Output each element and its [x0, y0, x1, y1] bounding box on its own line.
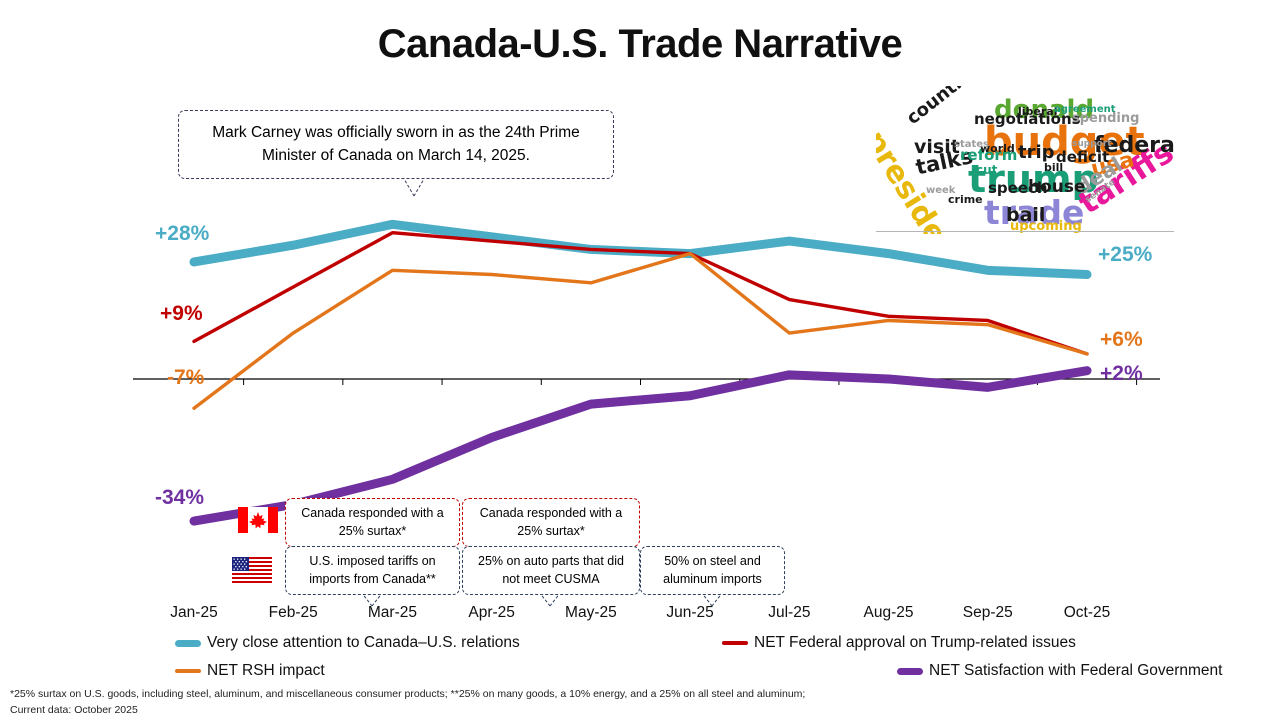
- legend-item-rsh: NET RSH impact: [175, 662, 325, 680]
- word-cloud-term-bill: bill: [1044, 162, 1063, 173]
- legend-label-satisfaction: NET Satisfaction with Federal Government: [929, 662, 1222, 680]
- series-line-2: [194, 254, 1087, 409]
- legend-item-approval: NET Federal approval on Trump-related is…: [722, 634, 1076, 652]
- x-axis-tick-may-25: May-25: [546, 604, 636, 622]
- annotation-canada-surtax-2: Canada responded with a 25% surtax*: [462, 498, 640, 547]
- legend-item-attention: Very close attention to Canada–U.S. rela…: [175, 634, 520, 652]
- start-label-rsh: -7%: [167, 366, 204, 390]
- x-axis-tick-mar-25: Mar-25: [347, 604, 437, 622]
- word-cloud-term-liberal: liberal: [1018, 106, 1058, 117]
- x-axis-labels: Jan-25Feb-25Mar-25Apr-25May-25Jun-25Jul-…: [0, 604, 1280, 626]
- word-cloud-term-states: states: [954, 140, 989, 150]
- end-label-attention: +25%: [1098, 243, 1152, 267]
- word-cloud-term-cut: cut: [976, 164, 997, 176]
- word-cloud-term-agreement: agreement: [1054, 105, 1116, 115]
- annotation-auto-parts: 25% on auto parts that did not meet CUSM…: [462, 546, 640, 595]
- start-label-approval: +9%: [160, 302, 203, 326]
- word-cloud-term-support: support: [1072, 140, 1112, 149]
- legend-label-approval: NET Federal approval on Trump-related is…: [754, 634, 1076, 652]
- series-line-1: [194, 233, 1087, 354]
- legend-swatch-approval: [722, 641, 748, 645]
- legend-label-rsh: NET RSH impact: [207, 662, 325, 680]
- annotation-steel-aluminum: 50% on steel and aluminum imports: [640, 546, 785, 595]
- x-axis-tick-oct-25: Oct-25: [1042, 604, 1132, 622]
- x-axis-tick-aug-25: Aug-25: [844, 604, 934, 622]
- end-label-satisfaction: +2%: [1100, 362, 1143, 386]
- start-label-satisfaction: -34%: [155, 486, 204, 510]
- word-cloud-term-week: week: [926, 186, 955, 196]
- legend-swatch-attention: [175, 640, 201, 647]
- x-axis-tick-sep-25: Sep-25: [943, 604, 1033, 622]
- legend-label-attention: Very close attention to Canada–U.S. rela…: [207, 634, 520, 652]
- word-cloud-term-trip: trip: [1018, 144, 1055, 162]
- annotation-canada-surtax-1: Canada responded with a 25% surtax*: [285, 498, 460, 547]
- start-label-attention: +28%: [155, 222, 209, 246]
- carney-callout: Mark Carney was officially sworn in as t…: [178, 110, 614, 179]
- x-axis-tick-jul-25: Jul-25: [744, 604, 834, 622]
- x-axis-tick-jan-25: Jan-25: [149, 604, 239, 622]
- annotation-us-tariffs: U.S. imposed tariffs on imports from Can…: [285, 546, 460, 595]
- legend-item-satisfaction: NET Satisfaction with Federal Government: [897, 662, 1222, 680]
- end-label-rsh: +6%: [1100, 328, 1143, 352]
- united-states-flag-icon: [232, 557, 272, 583]
- word-cloud-term-deficit: deficit: [1056, 150, 1109, 165]
- page-title: Canada-U.S. Trade Narrative: [0, 22, 1280, 67]
- x-axis-tick-jun-25: Jun-25: [645, 604, 735, 622]
- footnote: *25% surtax on U.S. goods, including ste…: [10, 686, 1210, 719]
- x-axis-tick-apr-25: Apr-25: [447, 604, 537, 622]
- word-cloud-term-visit: visit: [914, 138, 960, 157]
- footnote-line-2: Current data: October 2025: [10, 702, 1210, 718]
- word-cloud-divider: [876, 231, 1174, 232]
- x-axis-tick-feb-25: Feb-25: [248, 604, 338, 622]
- word-cloud-image: budgettrumptradepresidenttariffsdonaldfe…: [876, 86, 1176, 234]
- legend-swatch-satisfaction: [897, 668, 923, 675]
- word-cloud-term-speech: speech: [988, 181, 1048, 196]
- chart-legend: Very close attention to Canada–U.S. rela…: [0, 632, 1280, 688]
- legend-swatch-rsh: [175, 669, 201, 673]
- canada-flag-icon: [238, 507, 278, 533]
- footnote-line-1: *25% surtax on U.S. goods, including ste…: [10, 686, 1210, 702]
